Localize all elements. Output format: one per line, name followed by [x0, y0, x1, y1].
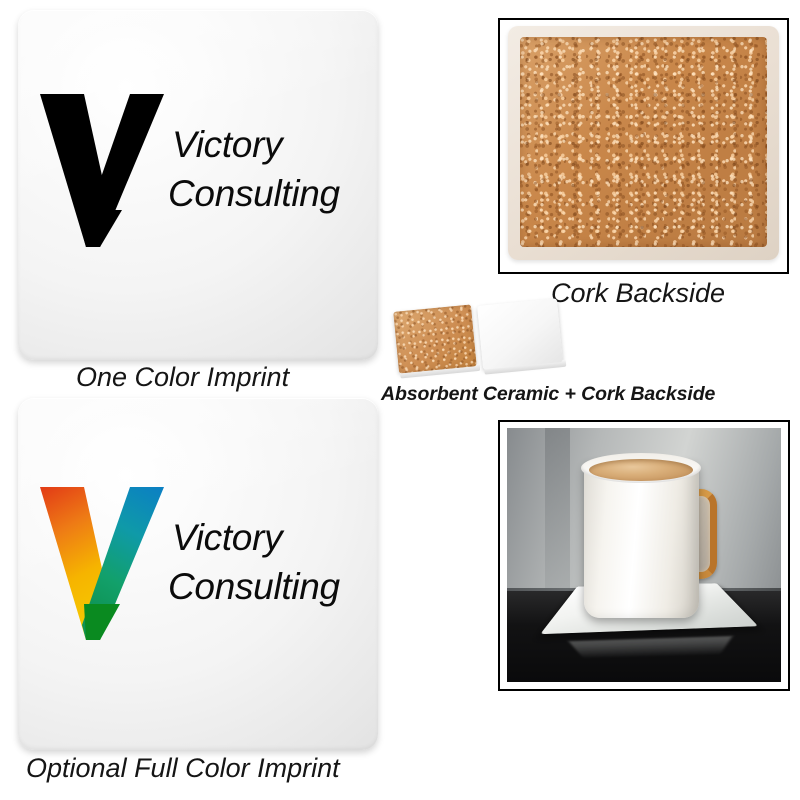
wordmark-line-2: Consulting [168, 170, 340, 218]
mini-coaster-ceramic-surface [477, 298, 563, 369]
logo-one-color: Victory Consulting [38, 92, 340, 247]
wordmark-full-color: Victory Consulting [168, 514, 340, 610]
caption-cork-backside: Cork Backside [551, 278, 725, 309]
v-checkmark-mark-icon [38, 485, 166, 640]
cork-photo-inner [508, 26, 779, 260]
caption-full-color-imprint: Optional Full Color Imprint [26, 753, 340, 784]
mug-body [584, 461, 699, 618]
caption-one-color-imprint: One Color Imprint [76, 362, 289, 393]
wordmark-line-1: Victory [168, 514, 340, 562]
mini-coaster-cork-surface [393, 304, 477, 373]
photo-scene [507, 428, 781, 682]
cork-surface [520, 37, 767, 247]
wordmark-line-1: Victory [168, 121, 340, 169]
mini-coaster-ceramic-side [477, 298, 563, 369]
product-image-stage: Victory Consulting One Color Imprint [0, 0, 800, 800]
coaster-reflection [568, 636, 733, 659]
wordmark-line-2: Consulting [168, 563, 340, 611]
cork-backside-photo[interactable] [498, 18, 789, 274]
caption-absorbent-ceramic-cork-backside: Absorbent Ceramic + Cork Backside [381, 383, 715, 406]
wordmark-one-color: Victory Consulting [168, 121, 340, 217]
mug-on-coaster-photo[interactable] [498, 420, 790, 691]
v-checkmark-mark-icon [38, 92, 166, 247]
coaster-ceramic-rim [508, 26, 779, 260]
mug-photo-inner [507, 428, 781, 682]
coffee-mug [584, 461, 699, 618]
mini-coaster-cork-side [393, 304, 477, 373]
logo-full-color: Victory Consulting [38, 485, 340, 640]
coaster-pair-photo[interactable] [396, 296, 566, 376]
